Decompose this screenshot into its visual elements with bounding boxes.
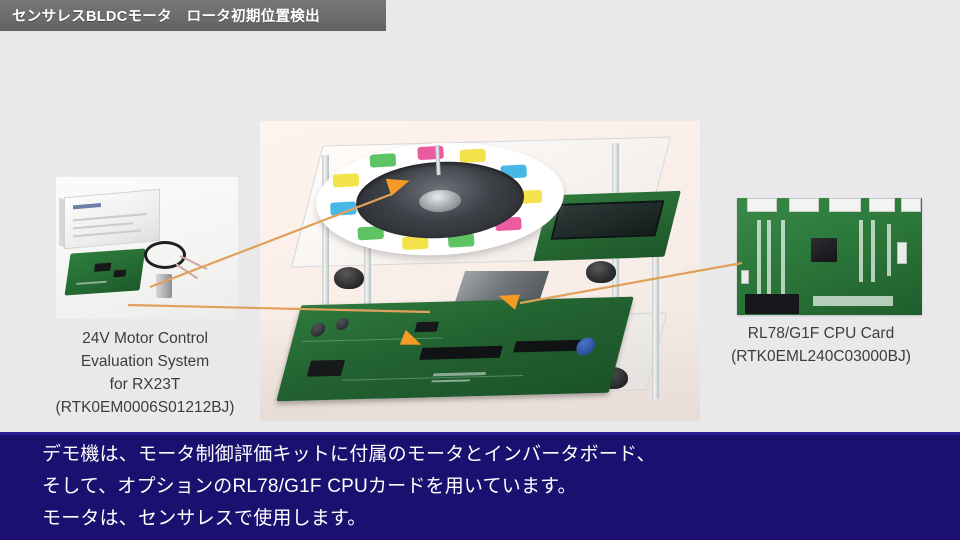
motor-control-kit-photo xyxy=(56,177,238,319)
pcb-chip xyxy=(414,322,439,333)
card-connector xyxy=(789,198,819,212)
footer-text-line: モータは、センサレスで使用します。 xyxy=(42,508,367,530)
card-component xyxy=(741,270,749,284)
card-pin-row xyxy=(757,220,761,294)
rotor-disc-ring xyxy=(313,137,567,262)
kit-box-logo xyxy=(73,203,101,209)
cpu-card-photo xyxy=(737,198,922,315)
disc-segment xyxy=(370,153,397,167)
kit-box-text-line xyxy=(73,229,141,237)
card-connector xyxy=(869,198,895,212)
board-chip xyxy=(94,263,111,272)
kit-box-text-line xyxy=(73,213,147,221)
kit-box-text-line xyxy=(73,222,133,229)
frame-foot xyxy=(334,267,364,289)
card-connector-black xyxy=(745,294,799,314)
pcb-chip xyxy=(307,360,345,377)
card-component xyxy=(897,242,907,264)
disc-segment xyxy=(333,173,360,187)
card-connector xyxy=(829,198,861,212)
card-connector xyxy=(901,198,921,212)
motor-wire xyxy=(175,263,198,279)
card-pin-strip xyxy=(813,296,893,306)
card-connector xyxy=(747,198,777,212)
title-bar: センサレスBLDCモータ ロータ初期位置検出 xyxy=(0,0,386,31)
card-pin-row xyxy=(767,220,771,294)
inverter-board xyxy=(65,248,146,295)
left-product-label: 24V Motor Control Evaluation System for … xyxy=(14,327,276,419)
disc-segment xyxy=(459,149,486,163)
pcb-silkscreen xyxy=(431,379,470,382)
slide-root: センサレスBLDCモータ ロータ初期位置検出 xyxy=(0,0,960,540)
rotor-disc xyxy=(313,137,567,262)
footer-text-line: そして、オプションのRL78/G1F CPUカードを用いています。 xyxy=(42,476,577,498)
pcb-header xyxy=(513,340,582,353)
frame-foot xyxy=(586,261,616,283)
pcb-header xyxy=(419,346,503,360)
card-pin-row xyxy=(859,220,863,282)
motor-body xyxy=(156,274,172,298)
card-microcontroller xyxy=(811,238,837,262)
kit-box xyxy=(64,189,160,249)
lcd-screen xyxy=(550,200,664,240)
content-area: 24V Motor Control Evaluation System for … xyxy=(0,31,960,432)
disc-segment xyxy=(330,201,357,215)
pcb-capacitor xyxy=(309,323,327,337)
board-silkscreen xyxy=(76,281,107,285)
footer-text-line: デモ機は、モータ制御評価キットに付属のモータとインバータボード、 xyxy=(42,444,656,466)
right-product-label: RL78/G1F CPU Card (RTK0EML240C03000BJ) xyxy=(690,322,952,368)
board-chip xyxy=(113,270,126,278)
footer-top-rule xyxy=(0,432,960,435)
inverter-pcb xyxy=(276,297,633,402)
card-pin-row xyxy=(887,224,891,276)
card-pin-row xyxy=(781,220,785,294)
pcb-capacitor xyxy=(335,318,350,330)
card-pin-row xyxy=(871,220,875,282)
page-title: センサレスBLDCモータ ロータ初期位置検出 xyxy=(0,5,320,26)
motor-demo-rig-photo xyxy=(260,121,700,421)
